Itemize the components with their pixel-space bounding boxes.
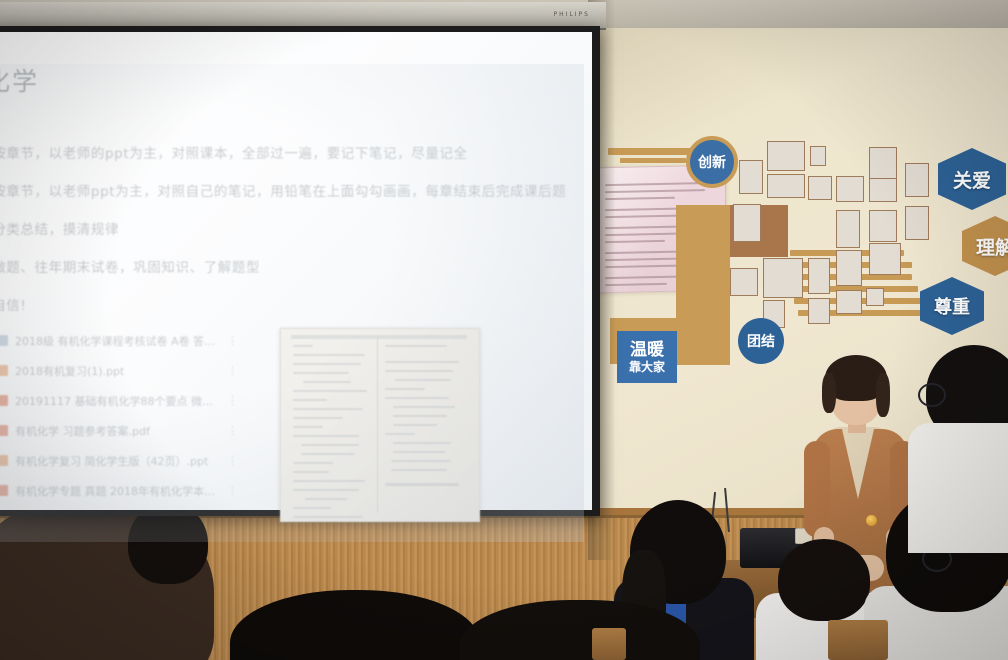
gold-accent-bar-1 <box>608 148 694 155</box>
student-back-right <box>900 345 1008 545</box>
photo-frame <box>836 250 862 286</box>
photo-frame <box>836 210 860 248</box>
badge-tuanjie-label: 团结 <box>747 331 775 351</box>
photo-frame <box>905 163 929 197</box>
photo-frame <box>808 258 830 294</box>
chair-back <box>828 620 888 660</box>
photo-frame <box>869 178 897 202</box>
projector-screen[interactable]: …化学 步，按章节，以老师的ppt为主，对照课本，全部过一遍，要记下笔记，尽量记… <box>0 32 592 510</box>
photo-frame <box>767 174 805 198</box>
badge-tuanjie: 团结 <box>738 318 784 364</box>
teacher-lapel-pin <box>866 515 877 526</box>
badge-chuangxin: 创新 <box>686 136 738 188</box>
photo-frame <box>739 160 763 194</box>
photo-frame <box>869 147 897 179</box>
classroom-photo-scene: 创新 关爱 理解 尊重 团结 温暖 靠大家 <box>0 0 1008 660</box>
photo-frame <box>836 176 864 202</box>
badge-wennuan: 温暖 靠大家 <box>617 331 677 383</box>
photo-frame <box>767 141 805 171</box>
student-glasses <box>918 383 946 407</box>
student-hair <box>230 590 480 660</box>
badge-zunzhong-label: 尊重 <box>934 293 970 319</box>
housing-brand-logo: PHILIPS <box>554 11 590 18</box>
teacher-sleeve-left <box>804 441 830 537</box>
photo-frame <box>730 268 758 296</box>
badge-lijie-label: 理解 <box>976 233 1008 260</box>
photo-frame <box>869 210 897 242</box>
student-foreground-center <box>230 590 470 660</box>
photo-frame <box>808 298 830 324</box>
photo-frame <box>733 204 761 242</box>
student-shirt <box>908 423 1008 553</box>
photo-frame <box>763 258 803 298</box>
badge-chuangxin-label: 创新 <box>698 152 726 172</box>
photo-frame <box>810 146 826 166</box>
screen-glare <box>0 64 584 542</box>
student-hair <box>778 539 870 621</box>
photo-frame <box>808 176 832 200</box>
photo-frame <box>905 206 929 240</box>
badge-guanai-label: 关爱 <box>953 166 991 193</box>
photo-frame <box>866 288 884 306</box>
badge-wennuan-label: 温暖 <box>630 341 664 360</box>
teacher-hair-side-right <box>876 373 890 417</box>
badge-wennuan-sublabel: 靠大家 <box>629 360 665 374</box>
teacher-hair-side-left <box>822 373 836 413</box>
photo-frame <box>869 243 901 275</box>
gold-accent-bar-2 <box>620 158 686 163</box>
student-foreground-right <box>460 600 690 660</box>
chair-back <box>592 628 626 660</box>
student-hair <box>460 600 700 660</box>
photo-frame <box>836 290 862 314</box>
